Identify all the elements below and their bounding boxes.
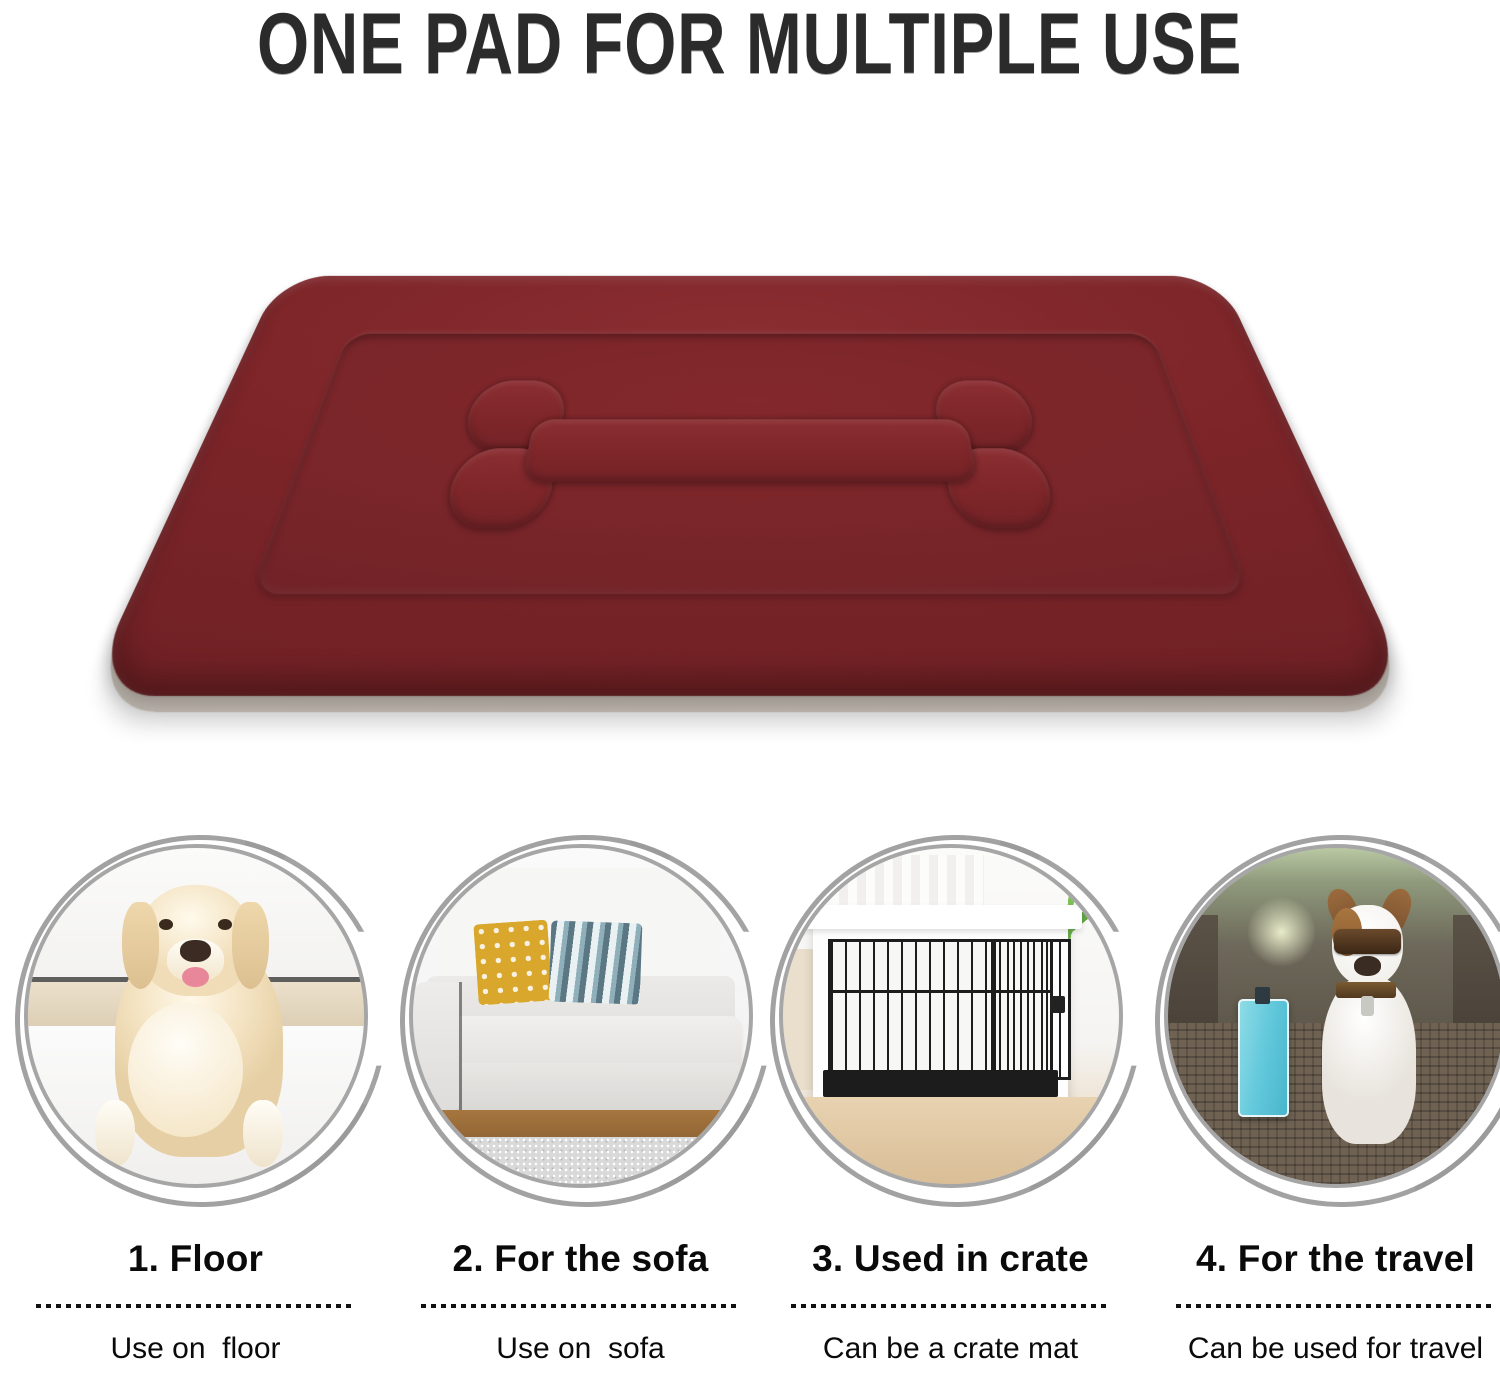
use-case-3-photo-frame xyxy=(779,844,1123,1188)
use-case-4-photo-frame xyxy=(1164,844,1500,1188)
use-case-1-divider xyxy=(36,1304,356,1308)
crate-icon xyxy=(783,848,1119,1184)
pad-perspective-wrapper xyxy=(85,176,1415,696)
use-case-4: 4. For the travel Can be used for travel xyxy=(1148,838,1500,1387)
use-case-3-divider xyxy=(791,1304,1111,1308)
page-title: ONE PAD FOR MULTIPLE USE xyxy=(257,0,1242,88)
use-case-4-subtitle: Can be used for travel xyxy=(1148,1332,1500,1366)
use-case-2-subtitle: Use on sofa xyxy=(393,1332,768,1366)
use-case-2-title: 2. For the sofa xyxy=(393,1238,768,1280)
use-case-1-photo-frame xyxy=(24,844,368,1188)
use-case-1-subtitle: Use on floor xyxy=(8,1332,383,1366)
pad-surface xyxy=(85,276,1415,696)
travel-icon xyxy=(1168,848,1500,1184)
bone-shaft xyxy=(522,419,978,482)
use-case-3-title: 3. Used in crate xyxy=(763,1238,1138,1280)
use-case-1: 1. Floor Use on floor xyxy=(8,838,383,1387)
hero-product-image xyxy=(0,150,1500,770)
dog-pad xyxy=(85,276,1415,696)
use-case-3: 3. Used in crate Can be a crate mat xyxy=(763,838,1138,1387)
use-case-2-divider xyxy=(421,1304,741,1308)
dog-on-floor-icon xyxy=(28,848,364,1184)
use-case-1-title: 1. Floor xyxy=(8,1238,383,1280)
page-header: ONE PAD FOR MULTIPLE USE xyxy=(0,0,1500,96)
use-case-3-subtitle: Can be a crate mat xyxy=(763,1332,1138,1366)
use-case-4-title: 4. For the travel xyxy=(1148,1238,1500,1280)
use-case-2: 2. For the sofa Use on sofa xyxy=(393,838,768,1387)
pad-inner-panel xyxy=(251,334,1249,594)
bone-emboss-icon xyxy=(441,380,1059,528)
use-case-2-photo-frame xyxy=(409,844,753,1188)
sofa-icon xyxy=(413,848,749,1184)
use-case-row: 1. Floor Use on floor xyxy=(0,838,1500,1387)
use-case-4-divider xyxy=(1176,1304,1496,1308)
